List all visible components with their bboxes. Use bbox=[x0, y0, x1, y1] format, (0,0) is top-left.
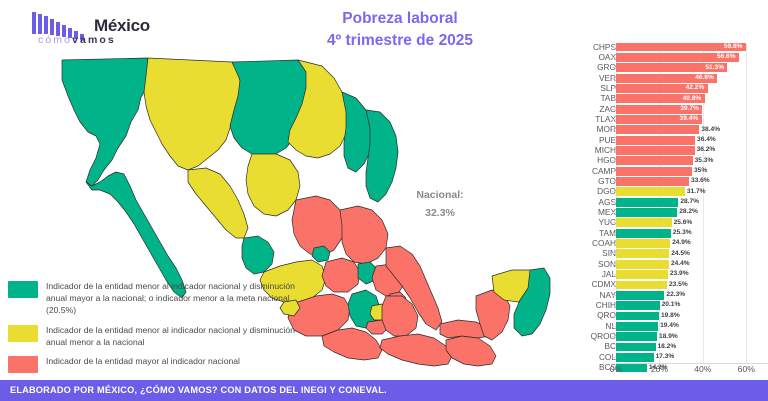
chart-value-label: 42.2% bbox=[686, 84, 705, 91]
chart-value-label: 46.6% bbox=[695, 74, 714, 81]
chart-bar-row[interactable]: MICH36.2% bbox=[560, 145, 768, 155]
chart-bar-container: 51.3% bbox=[616, 63, 768, 72]
chart-value-label: 36.4% bbox=[697, 136, 716, 143]
chart-category-label: SON bbox=[556, 259, 616, 269]
chart-bar-row[interactable]: COAH24.9% bbox=[560, 239, 768, 249]
chart-bar[interactable] bbox=[616, 343, 656, 352]
chart-category-label: BC bbox=[556, 341, 616, 351]
national-indicator: Nacional: 32.3% bbox=[386, 186, 494, 223]
chart-bar-row[interactable]: TAB40.8% bbox=[560, 94, 768, 104]
chart-value-label: 28.2% bbox=[679, 208, 698, 215]
chart-value-label: 23.9% bbox=[670, 270, 689, 277]
state-baja-california[interactable] bbox=[62, 58, 152, 186]
chart-category-label: TLAX bbox=[556, 114, 616, 124]
chart-bar-row[interactable]: TAM25.3% bbox=[560, 228, 768, 238]
chart-bar-row[interactable]: TLAX39.4% bbox=[560, 114, 768, 124]
legend-item: Indicador de la entidad menor al indicad… bbox=[8, 280, 298, 317]
chart-bar[interactable] bbox=[616, 167, 692, 176]
chart-value-label: 24.4% bbox=[671, 260, 690, 267]
chart-bar-container: 38.4% bbox=[616, 125, 768, 134]
chart-bar-container: 33.6% bbox=[616, 177, 768, 186]
chart-bar-row[interactable]: SON24.4% bbox=[560, 259, 768, 269]
chart-category-label: TAB bbox=[556, 93, 616, 103]
chart-bar-row[interactable]: ZAC39.7% bbox=[560, 104, 768, 114]
chart-category-label: ZAC bbox=[556, 104, 616, 114]
legend-item: Indicador de la entidad mayor al indicad… bbox=[8, 355, 298, 373]
chart-bar[interactable] bbox=[616, 198, 678, 207]
chart-bar-container: 19.8% bbox=[616, 312, 768, 321]
chart-value-label: 24.5% bbox=[671, 250, 690, 257]
chart-value-label: 25.3% bbox=[673, 229, 692, 236]
chart-bar[interactable] bbox=[616, 322, 658, 331]
state-durango[interactable] bbox=[246, 154, 300, 216]
chart-bar-row[interactable]: GTO33.6% bbox=[560, 176, 768, 186]
chart-bar-row[interactable]: AGS28.7% bbox=[560, 197, 768, 207]
chart-bar-row[interactable]: VER46.6% bbox=[560, 73, 768, 83]
chart-bar[interactable] bbox=[616, 249, 669, 258]
chart-category-label: NL bbox=[556, 321, 616, 331]
chart-value-label: 22.3% bbox=[666, 291, 685, 298]
chart-bar-container: 18.2% bbox=[616, 343, 768, 352]
chart-value-label: 39.7% bbox=[680, 105, 699, 112]
logo-bar bbox=[50, 19, 54, 35]
chart-category-label: YUC bbox=[556, 217, 616, 227]
chart-category-label: CAMP bbox=[556, 166, 616, 176]
chart-bar[interactable] bbox=[616, 146, 695, 155]
chart-bar-row[interactable]: BC18.2% bbox=[560, 342, 768, 352]
logo-bar bbox=[38, 14, 42, 34]
legend-label: Indicador de la entidad menor al indicad… bbox=[46, 280, 298, 317]
chart-bar-container: 24.9% bbox=[616, 239, 768, 248]
chart-bar-container: 56.6% bbox=[616, 53, 768, 62]
chart-value-label: 31.7% bbox=[687, 188, 706, 195]
chart-category-label: NAY bbox=[556, 290, 616, 300]
chart-bar[interactable] bbox=[616, 301, 660, 310]
chart-value-label: 33.6% bbox=[691, 177, 710, 184]
chart-bar[interactable] bbox=[616, 239, 670, 248]
chart-value-label: 17.3% bbox=[656, 353, 675, 360]
chart-bar-row[interactable]: PUE36.4% bbox=[560, 135, 768, 145]
chart-bar-container: 36.2% bbox=[616, 146, 768, 155]
chart-value-label: 39.4% bbox=[680, 115, 699, 122]
chart-bar[interactable] bbox=[616, 125, 699, 134]
map-legend: Indicador de la entidad menor al indicad… bbox=[8, 280, 298, 380]
legend-swatch bbox=[8, 356, 38, 373]
chart-value-label: 51.3% bbox=[705, 64, 724, 71]
chart-bar-container: 59.8% bbox=[616, 43, 768, 52]
chart-value-label: 35% bbox=[694, 167, 707, 174]
chart-bar-row[interactable]: SIN24.5% bbox=[560, 249, 768, 259]
chart-bar[interactable] bbox=[616, 208, 677, 217]
chart-category-label: CDMX bbox=[556, 279, 616, 289]
chart-category-label: GRO bbox=[556, 62, 616, 72]
chart-category-label: AGS bbox=[556, 197, 616, 207]
chart-bar[interactable] bbox=[616, 187, 685, 196]
chart-bar-container: 24.4% bbox=[616, 260, 768, 269]
chart-bar-row[interactable]: YUC25.6% bbox=[560, 218, 768, 228]
chart-category-label: JAL bbox=[556, 269, 616, 279]
chart-bar-container: 28.7% bbox=[616, 198, 768, 207]
chart-bar-container: 25.3% bbox=[616, 229, 768, 238]
chart-bar-row[interactable]: MEX28.2% bbox=[560, 208, 768, 218]
chart-bar[interactable] bbox=[616, 281, 667, 290]
chart-bar-container: 18.9% bbox=[616, 332, 768, 341]
chart-value-label: 28.7% bbox=[680, 198, 699, 205]
chart-value-label: 24.9% bbox=[672, 239, 691, 246]
chart-bar-container: 36.4% bbox=[616, 136, 768, 145]
logo-wordmark: México bbox=[94, 16, 150, 36]
footer-text: ELABORADO POR MÉXICO, ¿CÓMO VAMOS? CON D… bbox=[10, 385, 387, 395]
chart-bar-container: 35% bbox=[616, 167, 768, 176]
chart-bar-row[interactable]: CHIH20.1% bbox=[560, 301, 768, 311]
x-tick-label: 40% bbox=[694, 364, 711, 374]
chart-value-label: 35.3% bbox=[695, 157, 714, 164]
chart-category-label: SIN bbox=[556, 248, 616, 258]
legend-label: Indicador de la entidad mayor al indicad… bbox=[46, 355, 240, 367]
chart-category-label: SLP bbox=[556, 83, 616, 93]
chart-bar[interactable] bbox=[616, 312, 659, 321]
chart-bar-container: 25.6% bbox=[616, 218, 768, 227]
chart-bar-container: 39.4% bbox=[616, 115, 768, 124]
chart-bar-container: 42.2% bbox=[616, 84, 768, 93]
national-value: 32.3% bbox=[386, 204, 494, 222]
chart-value-label: 36.2% bbox=[697, 146, 716, 153]
chart-category-label: PUE bbox=[556, 135, 616, 145]
chart-value-label: 25.6% bbox=[674, 219, 693, 226]
chart-bar-row[interactable]: NAY22.3% bbox=[560, 290, 768, 300]
chart-bar[interactable] bbox=[616, 353, 654, 362]
chart-bar-container: 20.1% bbox=[616, 301, 768, 310]
chart-value-label: 20.1% bbox=[662, 301, 681, 308]
chart-value-label: 59.8% bbox=[724, 43, 743, 50]
chart-category-label: TAM bbox=[556, 228, 616, 238]
chart-category-label: GTO bbox=[556, 176, 616, 186]
chart-bar-row[interactable]: GRO51.3% bbox=[560, 63, 768, 73]
chart-x-axis: 0%20%40%60% bbox=[560, 364, 768, 378]
legend-swatch bbox=[8, 281, 38, 298]
chart-category-label: VER bbox=[556, 73, 616, 83]
chart-category-label: DGO bbox=[556, 186, 616, 196]
chart-bar-container: 23.5% bbox=[616, 281, 768, 290]
chart-category-label: COAH bbox=[556, 238, 616, 248]
chart-category-label: CHPS bbox=[556, 42, 616, 52]
chart-category-label: CHIH bbox=[556, 300, 616, 310]
chart-bar-row[interactable]: DGO31.7% bbox=[560, 187, 768, 197]
chart-bar[interactable] bbox=[616, 218, 672, 227]
chart-category-label: COL bbox=[556, 352, 616, 362]
x-tick-label: 0% bbox=[610, 364, 622, 374]
chart-bar-container: 22.3% bbox=[616, 291, 768, 300]
state-san-luis-potosi[interactable] bbox=[340, 206, 388, 264]
chart-category-label: MICH bbox=[556, 145, 616, 155]
state-oaxaca[interactable] bbox=[380, 334, 452, 366]
chart-bar-row[interactable]: SLP42.2% bbox=[560, 83, 768, 93]
chart-bar-container: 19.4% bbox=[616, 322, 768, 331]
state-guanajuato[interactable] bbox=[322, 258, 360, 292]
chart-bar-container: 40.8% bbox=[616, 94, 768, 103]
chart-category-label: MEX bbox=[556, 207, 616, 217]
chart-value-label: 18.9% bbox=[659, 333, 678, 340]
chart-value-label: 19.4% bbox=[660, 322, 679, 329]
chart-bar-container: 46.6% bbox=[616, 74, 768, 83]
chart-bar-container: 39.7% bbox=[616, 105, 768, 114]
bar-chart[interactable]: CHPS59.8%OAX56.6%GRO51.3%VER46.6%SLP42.2… bbox=[560, 42, 768, 380]
chart-value-label: 23.5% bbox=[669, 281, 688, 288]
chart-bar-container: 17.3% bbox=[616, 353, 768, 362]
state-sonora[interactable] bbox=[144, 58, 242, 170]
chart-bar-row[interactable]: CHPS59.8% bbox=[560, 42, 768, 52]
footer-bar: ELABORADO POR MÉXICO, ¿CÓMO VAMOS? CON D… bbox=[0, 380, 768, 401]
state-chiapas[interactable] bbox=[446, 336, 496, 366]
chart-category-label: QROO bbox=[556, 331, 616, 341]
chart-bar-row[interactable]: HGO35.3% bbox=[560, 156, 768, 166]
chart-value-label: 18.2% bbox=[658, 343, 677, 350]
chart-bar-row[interactable]: JAL23.9% bbox=[560, 270, 768, 280]
chart-value-label: 56.6% bbox=[717, 53, 736, 60]
state-sinaloa[interactable] bbox=[188, 168, 248, 238]
legend-label: Indicador de la entidad menor al indicad… bbox=[46, 324, 298, 348]
chart-bar[interactable] bbox=[616, 332, 657, 341]
chart-category-label: MOR bbox=[556, 124, 616, 134]
chart-bar-row[interactable]: COL17.3% bbox=[560, 352, 768, 362]
chart-bar[interactable] bbox=[616, 270, 668, 279]
chart-value-label: 38.4% bbox=[701, 126, 720, 133]
logo-bar bbox=[44, 16, 48, 34]
state-nayarit[interactable] bbox=[242, 236, 274, 274]
chart-bar-row[interactable]: NL19.4% bbox=[560, 321, 768, 331]
chart-bar-container: 31.7% bbox=[616, 187, 768, 196]
x-tick-label: 20% bbox=[651, 364, 668, 374]
chart-bar[interactable] bbox=[616, 229, 671, 238]
chart-category-label: QRO bbox=[556, 310, 616, 320]
chart-bar-row[interactable]: CDMX23.5% bbox=[560, 280, 768, 290]
chart-category-label: OAX bbox=[556, 52, 616, 62]
chart-bar[interactable] bbox=[616, 136, 695, 145]
chart-bar-row[interactable]: QRO19.8% bbox=[560, 311, 768, 321]
chart-value-label: 40.8% bbox=[683, 95, 702, 102]
legend-item: Indicador de la entidad menor al indicad… bbox=[8, 324, 298, 348]
chart-bar[interactable] bbox=[616, 260, 669, 269]
chart-bar[interactable] bbox=[616, 177, 689, 186]
chart-bar-container: 23.9% bbox=[616, 270, 768, 279]
chart-bar[interactable] bbox=[616, 291, 664, 300]
chart-value-label: 19.8% bbox=[661, 312, 680, 319]
chart-bar-row[interactable]: QROO18.9% bbox=[560, 332, 768, 342]
legend-swatch bbox=[8, 325, 38, 342]
national-label: Nacional: bbox=[386, 186, 494, 204]
x-tick-label: 60% bbox=[738, 364, 755, 374]
chart-bar-container: 35.3% bbox=[616, 156, 768, 165]
chart-bar-container: 24.5% bbox=[616, 249, 768, 258]
chart-category-label: HGO bbox=[556, 155, 616, 165]
title-line-1: Pobreza laboral bbox=[250, 8, 550, 30]
logo-bar bbox=[32, 12, 36, 34]
chart-bar-row[interactable]: OAX56.6% bbox=[560, 52, 768, 62]
chart-bar-container: 28.2% bbox=[616, 208, 768, 217]
chart-bar-row[interactable]: CAMP35% bbox=[560, 166, 768, 176]
chart-bar-row[interactable]: MOR38.4% bbox=[560, 125, 768, 135]
chart-bar[interactable] bbox=[616, 156, 693, 165]
